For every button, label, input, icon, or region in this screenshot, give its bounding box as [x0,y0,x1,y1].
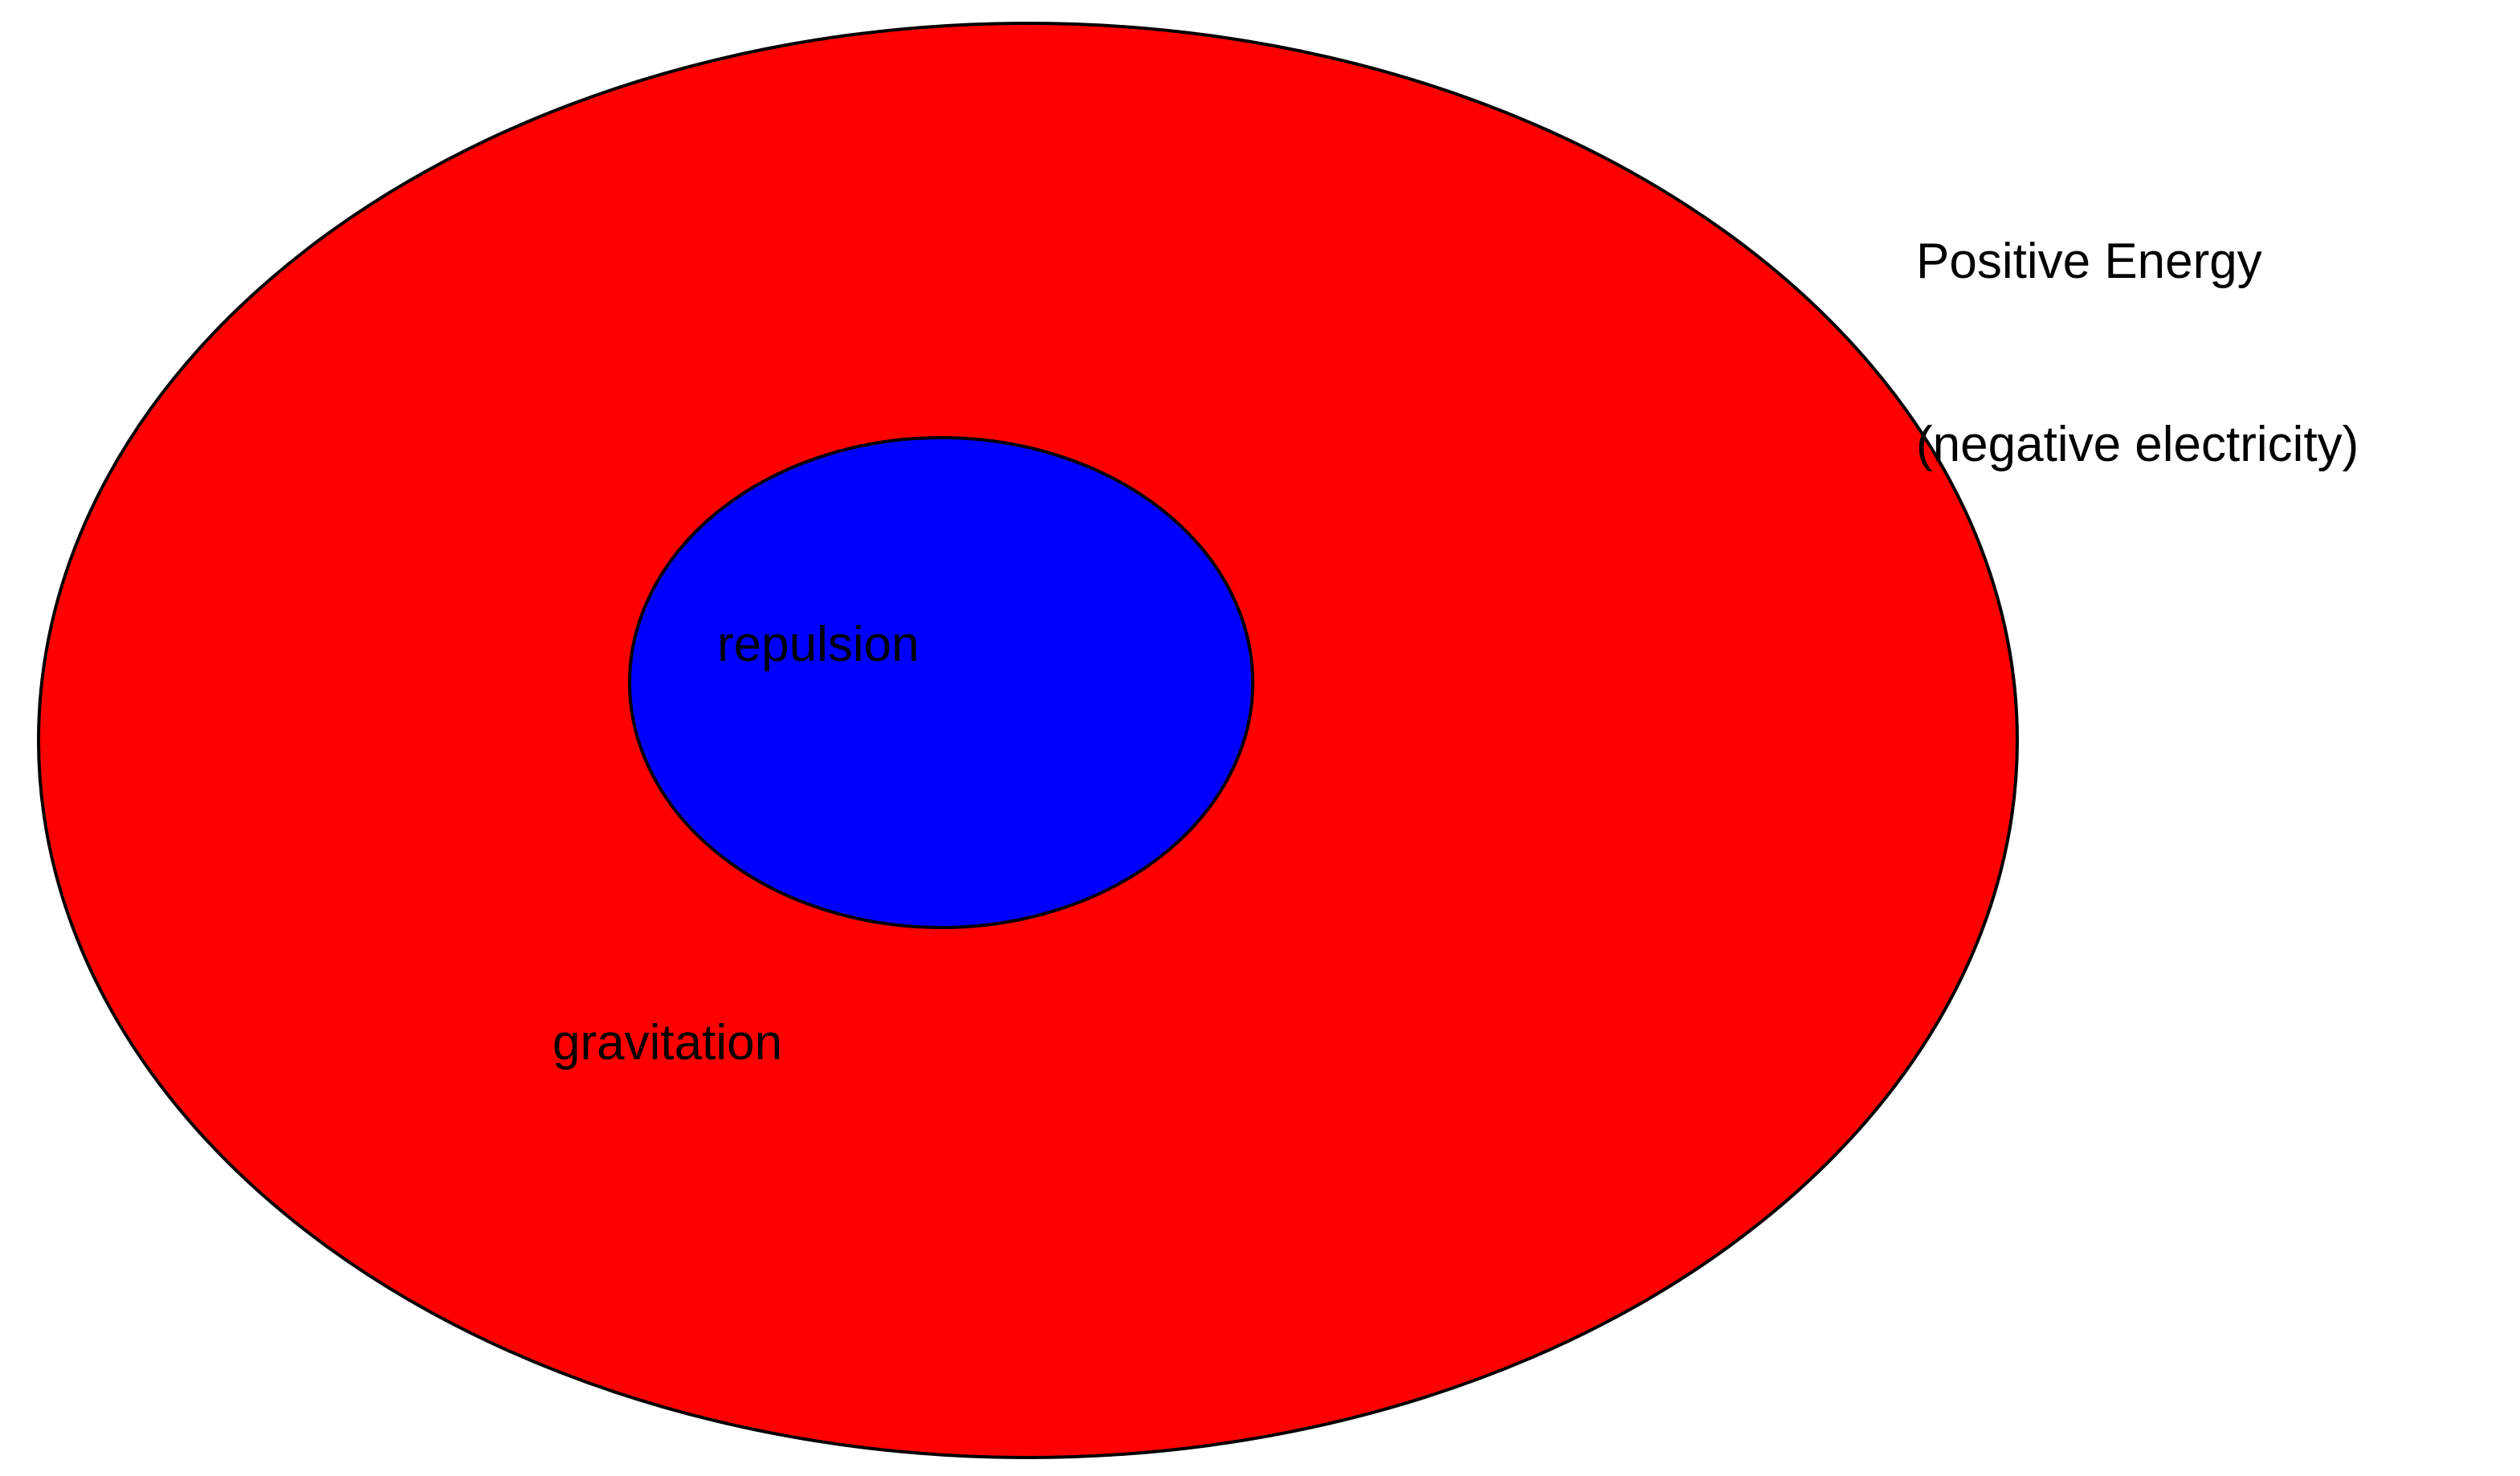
annotation-line-positive-energy: Positive Energy [1916,231,2359,292]
outer-ellipse-annotation: Positive Energy (negative electricity) [1916,109,2359,597]
diagram-canvas: repulsion gravitation Positive Energy (n… [0,0,2520,1476]
outer-ellipse-label-gravitation: gravitation [553,1018,782,1068]
inner-ellipse-label-repulsion: repulsion [717,620,920,670]
inner-ellipse-repulsion[interactable] [630,438,1253,928]
annotation-line-negative-electricity: (negative electricity) [1916,414,2359,475]
